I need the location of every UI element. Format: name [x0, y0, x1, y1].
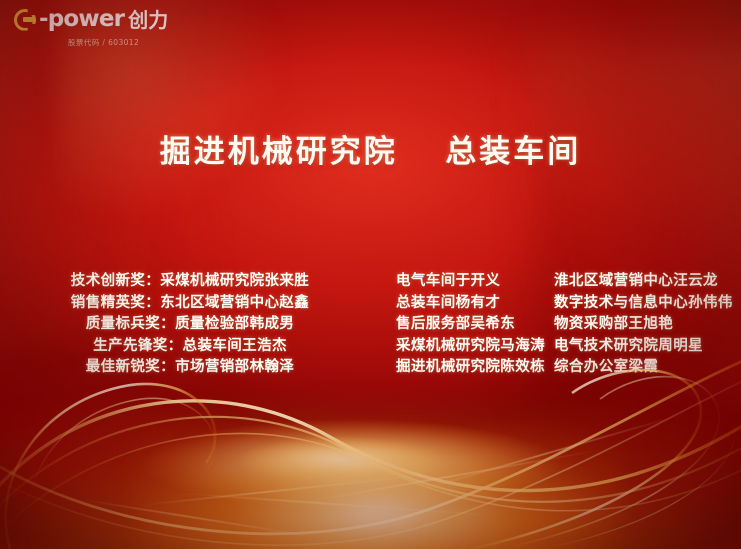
honoree-name: 电气车间于开义 — [396, 271, 554, 293]
list-item: 最佳新锐奖：市场营销部林翰泽 — [0, 357, 380, 379]
light-ray — [180, 493, 499, 517]
section-heading-right: 2023年度先进个人 — [390, 214, 741, 247]
stock-code: 股票代码 / 603012 — [68, 37, 224, 48]
poster-canvas: -power 创力 股票代码 / 603012 2023年度先进集体 掘进机械研… — [0, 0, 741, 549]
swoosh-core-glow — [133, 433, 622, 549]
logo-row: -power 创力 — [14, 8, 224, 31]
list-item: 总装车间杨有才 数字技术与信息中心孙伟伟 — [396, 293, 741, 315]
honoree-name: 物资采购部王旭艳 — [554, 314, 741, 336]
list-item: 销售精英奖：东北区域营销中心赵鑫 — [0, 293, 380, 315]
light-ray — [302, 450, 598, 503]
honoree-name: 电气技术研究院周明星 — [554, 336, 741, 358]
light-ray — [81, 499, 318, 538]
honoree-name: 售后服务部吴希东 — [396, 314, 554, 336]
section-heading-left: 2023年度先进个人单项奖 — [0, 214, 390, 247]
honoree-name: 综合办公室梁霞 — [554, 357, 741, 379]
award-list-right: 电气车间于开义 淮北区域营销中心汪云龙 总装车间杨有才 数字技术与信息中心孙伟伟… — [390, 271, 741, 379]
page-title: 2023年度先进集体 — [0, 62, 741, 98]
honoree-name: 掘进机械研究院陈效栋 — [396, 357, 554, 379]
list-item: 售后服务部吴希东 物资采购部王旭艳 — [396, 314, 741, 336]
brand-name-en: -power — [39, 8, 124, 31]
honoree-name: 淮北区域营销中心汪云龙 — [554, 271, 741, 293]
list-item: 生产先锋奖：总装车间王浩杰 — [0, 336, 380, 358]
brand-name-cn: 创力 — [128, 10, 168, 30]
honoree-name: 总装车间杨有才 — [396, 293, 554, 315]
section-individual-special-awards: 2023年度先进个人单项奖 技术创新奖：采煤机械研究院张来胜 销售精英奖：东北区… — [0, 214, 390, 395]
list-item: 掘进机械研究院陈效栋 综合办公室梁霞 — [396, 357, 741, 379]
page-subtitle: 掘进机械研究院 总装车间 — [0, 136, 741, 167]
list-item: 电气车间于开义 淮北区域营销中心汪云龙 — [396, 271, 741, 293]
honoree-name: 采煤机械研究院马海涛 — [396, 336, 554, 358]
honoree-name: 数字技术与信息中心孙伟伟 — [554, 293, 741, 315]
subtitle-item-2: 总装车间 — [445, 134, 581, 169]
light-ray — [425, 416, 675, 489]
list-item: 技术创新奖：采煤机械研究院张来胜 — [0, 271, 380, 293]
swoosh-base-glow — [0, 409, 741, 549]
brand-logo: -power 创力 股票代码 / 603012 — [14, 8, 224, 48]
awards-sections: 2023年度先进个人单项奖 技术创新奖：采煤机械研究院张来胜 销售精英奖：东北区… — [0, 214, 741, 395]
section-advanced-individuals: 2023年度先进个人 电气车间于开义 淮北区域营销中心汪云龙 总装车间杨有才 数… — [390, 214, 741, 395]
light-ray — [141, 475, 420, 506]
list-item: 采煤机械研究院马海涛 电气技术研究院周明星 — [396, 336, 741, 358]
list-item: 质量标兵奖：质量检验部韩成男 — [0, 314, 380, 336]
award-list-left: 技术创新奖：采煤机械研究院张来胜 销售精英奖：东北区域营销中心赵鑫 质量标兵奖：… — [0, 271, 390, 379]
c-power-ring-icon — [14, 9, 36, 31]
subtitle-item-1: 掘进机械研究院 — [160, 134, 398, 169]
